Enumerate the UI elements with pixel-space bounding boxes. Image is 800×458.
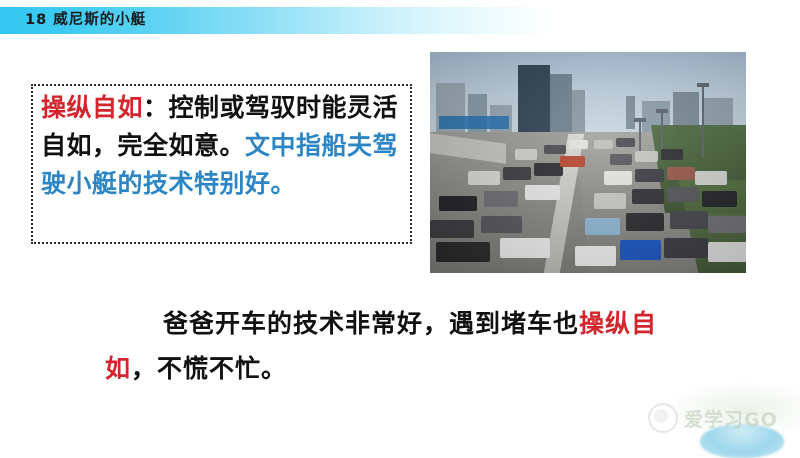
- car: [632, 189, 664, 204]
- car: [569, 140, 588, 149]
- car: [575, 246, 616, 266]
- traffic-jam-photo: [430, 52, 746, 273]
- sentence-part-2: ，不慌不忙。: [131, 354, 287, 383]
- car: [635, 169, 663, 182]
- building-shape: [626, 96, 635, 129]
- car: [484, 191, 519, 206]
- car: [604, 171, 632, 184]
- car: [515, 149, 537, 160]
- definition-text: 操纵自如：控制或驾驭时能灵活自如，完全如意。文中指船夫驾驶小艇的技术特别好。: [41, 89, 407, 203]
- car: [667, 167, 695, 180]
- car: [610, 154, 632, 165]
- street-lamp: [639, 118, 641, 153]
- car: [616, 138, 635, 147]
- watermark-text: 爱学习GO: [684, 405, 778, 432]
- watermark-logo-icon: [648, 403, 678, 433]
- car: [439, 196, 477, 211]
- building-shape: [550, 74, 572, 134]
- car: [708, 216, 746, 234]
- sentence-part-1: 爸爸开车的技术非常好，遇到堵车也: [163, 309, 579, 338]
- car: [708, 242, 746, 262]
- car: [667, 187, 699, 202]
- watermark: 爱学习GO: [648, 398, 798, 438]
- car: [695, 171, 727, 184]
- car: [594, 193, 626, 208]
- car: [430, 220, 474, 238]
- car: [544, 145, 566, 154]
- car: [503, 167, 531, 180]
- example-sentence: 爸爸开车的技术非常好，遇到堵车也操纵自如，不慌不忙。: [105, 301, 705, 391]
- car: [664, 238, 708, 258]
- car: [620, 240, 661, 260]
- car: [468, 171, 500, 184]
- definition-box: 操纵自如：控制或驾驭时能灵活自如，完全如意。文中指船夫驾驶小艇的技术特别好。: [31, 84, 412, 244]
- roadside-sign: [439, 116, 509, 129]
- car: [661, 149, 683, 160]
- definition-keyword: 操纵自如: [41, 93, 143, 122]
- car: [585, 218, 620, 236]
- car: [534, 163, 562, 176]
- car: [626, 213, 664, 231]
- car: [500, 238, 551, 258]
- page-title: 18 威尼斯的小艇: [25, 9, 146, 32]
- street-lamp: [702, 83, 704, 158]
- building-shape: [572, 90, 585, 134]
- car: [436, 242, 490, 262]
- car: [560, 156, 585, 167]
- car: [481, 216, 522, 234]
- definition-colon: ：: [143, 93, 169, 122]
- building-shape: [518, 65, 550, 134]
- car: [670, 211, 708, 229]
- car: [525, 185, 560, 200]
- car: [702, 191, 737, 206]
- car: [635, 151, 657, 162]
- car: [594, 140, 613, 149]
